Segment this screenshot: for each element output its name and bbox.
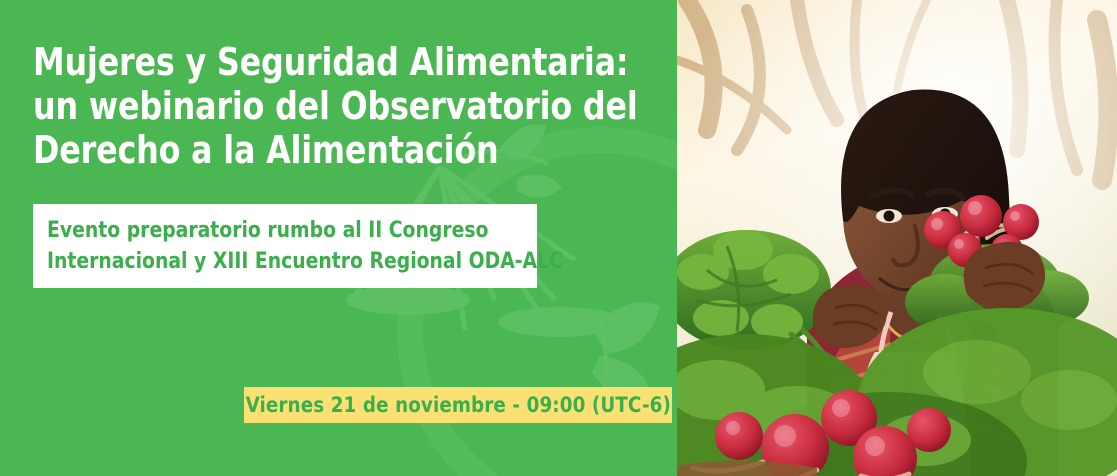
date-badge-label: Viernes 21 de noviembre - 09:00 (UTC-6) bbox=[245, 395, 670, 416]
title-line-2: un webinario del Observatorio del bbox=[33, 84, 610, 128]
title-line-3: Derecho a la Alimentación bbox=[33, 128, 610, 172]
photo-illustration bbox=[677, 0, 1117, 476]
webinar-banner: Mujeres y Seguridad Alimentaria: un webi… bbox=[0, 0, 1117, 476]
subtitle-line-1: Evento preparatorio rumbo al II Congreso bbox=[47, 215, 513, 246]
subtitle-line-2: Internacional y XIII Encuentro Regional … bbox=[47, 246, 513, 277]
page-title: Mujeres y Seguridad Alimentaria: un webi… bbox=[33, 40, 653, 172]
subtitle-box: Evento preparatorio rumbo al II Congreso… bbox=[33, 204, 537, 288]
title-line-1: Mujeres y Seguridad Alimentaria: bbox=[33, 40, 610, 84]
green-panel: Mujeres y Seguridad Alimentaria: un webi… bbox=[0, 0, 690, 476]
hero-photo bbox=[677, 0, 1117, 476]
date-badge: Viernes 21 de noviembre - 09:00 (UTC-6) bbox=[244, 387, 672, 423]
